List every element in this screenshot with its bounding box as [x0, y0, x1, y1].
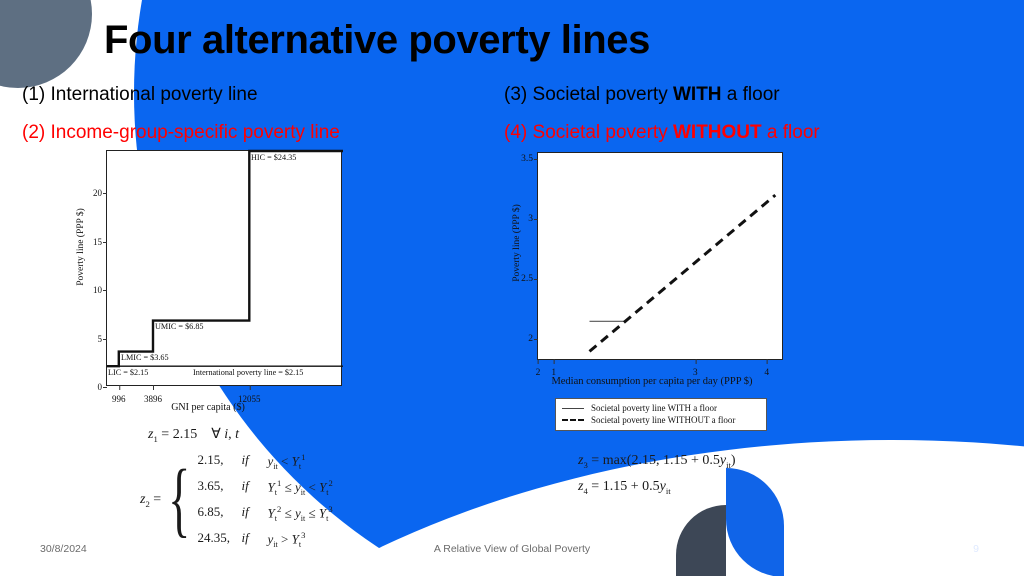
chart-left-xtick-996: 996	[112, 394, 126, 404]
bullet-societal-poverty-without-floor: (4) Societal poverty WITHOUT a floor	[504, 122, 820, 144]
chart-left-series-svg	[107, 151, 343, 387]
bullet-international-poverty-line: (1) International poverty line	[22, 84, 258, 106]
bullet-societal-poverty-with-floor: (3) Societal poverty WITH a floor	[504, 84, 780, 106]
chart-left-xtick-12055: 12055	[238, 394, 261, 404]
chart-left-plot-area: 0 5 10 15 20 996 3896 12055 HIC = $24.35…	[106, 150, 342, 386]
formula-z4: z4 = 1.15 + 0.5yit	[578, 476, 736, 502]
chart-left-annotation-lmic: LMIC = $3.65	[121, 353, 169, 362]
slide-canvas: Four alternative poverty lines (1) Inter…	[0, 0, 1024, 576]
slate-circle-decoration-top-left	[0, 0, 92, 88]
formula-z2-case-cond: Yt1 ≤ yit < Yt2	[268, 478, 333, 497]
chart-right-xtick-4: 4	[764, 368, 769, 378]
formula-z2-case-row: 3.65, if Yt1 ≤ yit < Yt2	[198, 478, 333, 497]
chart-left-annotation-lic: LIC = $2.15	[108, 368, 148, 377]
chart-right-plot-area: 2 2.5 3 3.5 1 2 3 4	[537, 152, 783, 360]
legend-label-with-floor: Societal poverty line WITH a floor	[591, 402, 717, 414]
chart-left-annotation-umic: UMIC = $6.85	[155, 322, 204, 331]
formula-z3-z4: z3 = max(2.15, 1.15 + 0.5yit) z4 = 1.15 …	[578, 450, 736, 502]
chart-right-ytick-3_5: 3.5	[521, 154, 533, 164]
formula-z2-case-if: if	[242, 478, 258, 497]
legend-swatch-dashed-icon	[562, 419, 584, 421]
bullet-4-number: (4)	[504, 122, 527, 143]
formula-z2-case-value: 3.65,	[198, 478, 232, 497]
bullet-4-pre: Societal poverty	[533, 122, 673, 143]
chart-left-ytick-10: 10	[93, 285, 102, 295]
legend-label-without-floor: Societal poverty line WITHOUT a floor	[591, 414, 735, 426]
chart-left-ytick-15: 15	[93, 237, 102, 247]
formula-z2-lhs: z2 =	[140, 492, 161, 509]
chart-right-xtick-1: 1	[551, 368, 556, 378]
bullet-4-strong: WITHOUT	[673, 122, 762, 143]
formula-z3: z3 = max(2.15, 1.15 + 0.5yit)	[578, 450, 736, 476]
chart-right-ytick-2: 2	[528, 334, 533, 344]
formula-z2-case-cond: Yt2 ≤ yit ≤ Yt3	[268, 504, 333, 523]
formula-z2: z2 = { 2.15, if yit < Yt1 3.65, if Yt1 ≤…	[140, 452, 333, 549]
formula-z2-cases: 2.15, if yit < Yt1 3.65, if Yt1 ≤ yit < …	[198, 452, 333, 549]
formula-z2-case-if: if	[242, 504, 258, 523]
bullet-4-post: a floor	[762, 122, 820, 143]
formula-z2-brace-icon: {	[168, 474, 190, 526]
chart-right-xtick-2: 2	[536, 368, 541, 378]
formula-z2-case-row: 2.15, if yit < Yt1	[198, 452, 333, 471]
chart-left-ytick-5: 5	[98, 334, 103, 344]
formula-z2-case-if: if	[242, 452, 258, 471]
chart-left-xtick-3896: 3896	[144, 394, 162, 404]
chart-left-y-axis-label: Poverty line (PPP $)	[76, 182, 86, 312]
bullet-3-number: (3)	[504, 84, 527, 105]
chart-left-step-series	[107, 151, 343, 366]
chart-right-series-svg	[538, 153, 784, 361]
formula-z1: z1 = 2.15 ∀ i, t	[148, 426, 239, 444]
leaf-petal-gray-decoration	[676, 505, 726, 576]
formula-z2-case-row: 6.85, if Yt2 ≤ yit ≤ Yt3	[198, 504, 333, 523]
chart-left-ytick-0: 0	[98, 382, 103, 392]
legend-swatch-solid-icon	[562, 408, 584, 409]
bullet-income-group-specific-poverty-line: (2) Income-group-specific poverty line	[22, 122, 340, 144]
bullet-3-post: a floor	[722, 84, 780, 105]
bullet-3-strong: WITH	[673, 84, 722, 105]
chart-left-x-axis-label: GNI per capita ($)	[62, 402, 354, 413]
chart-left-annotation-ipl: International poverty line = $2.15	[193, 368, 303, 377]
formula-z2-case-value: 6.85,	[198, 504, 232, 523]
page-title: Four alternative poverty lines	[104, 18, 650, 63]
legend-entry-with-floor: Societal poverty line WITH a floor	[562, 402, 760, 414]
chart-right-without-floor-series	[590, 195, 776, 351]
footer-page-number: 9	[464, 543, 1024, 555]
chart-right-ytick-2_5: 2.5	[521, 274, 533, 284]
legend-entry-without-floor: Societal poverty line WITHOUT a floor	[562, 414, 760, 426]
chart-left-ytick-20: 20	[93, 188, 102, 198]
chart-right-legend: Societal poverty line WITH a floor Socie…	[555, 398, 767, 431]
chart-right-x-axis-label: Median consumption per capita per day (P…	[506, 376, 798, 387]
formula-z2-case-cond: yit < Yt1	[268, 452, 306, 471]
chart-societal-poverty: Poverty line (PPP $) Median consumption …	[498, 148, 798, 396]
chart-right-xtick-3: 3	[693, 368, 698, 378]
chart-left-annotation-hic: HIC = $24.35	[251, 153, 296, 162]
bullet-3-pre: Societal poverty	[533, 84, 673, 105]
chart-right-y-axis-label: Poverty line (PPP $)	[512, 168, 522, 318]
chart-right-ytick-3: 3	[528, 214, 533, 224]
chart-income-group-step: Poverty line (PPP $) GNI per capita ($) …	[62, 150, 354, 420]
formula-z2-case-value: 2.15,	[198, 452, 232, 471]
